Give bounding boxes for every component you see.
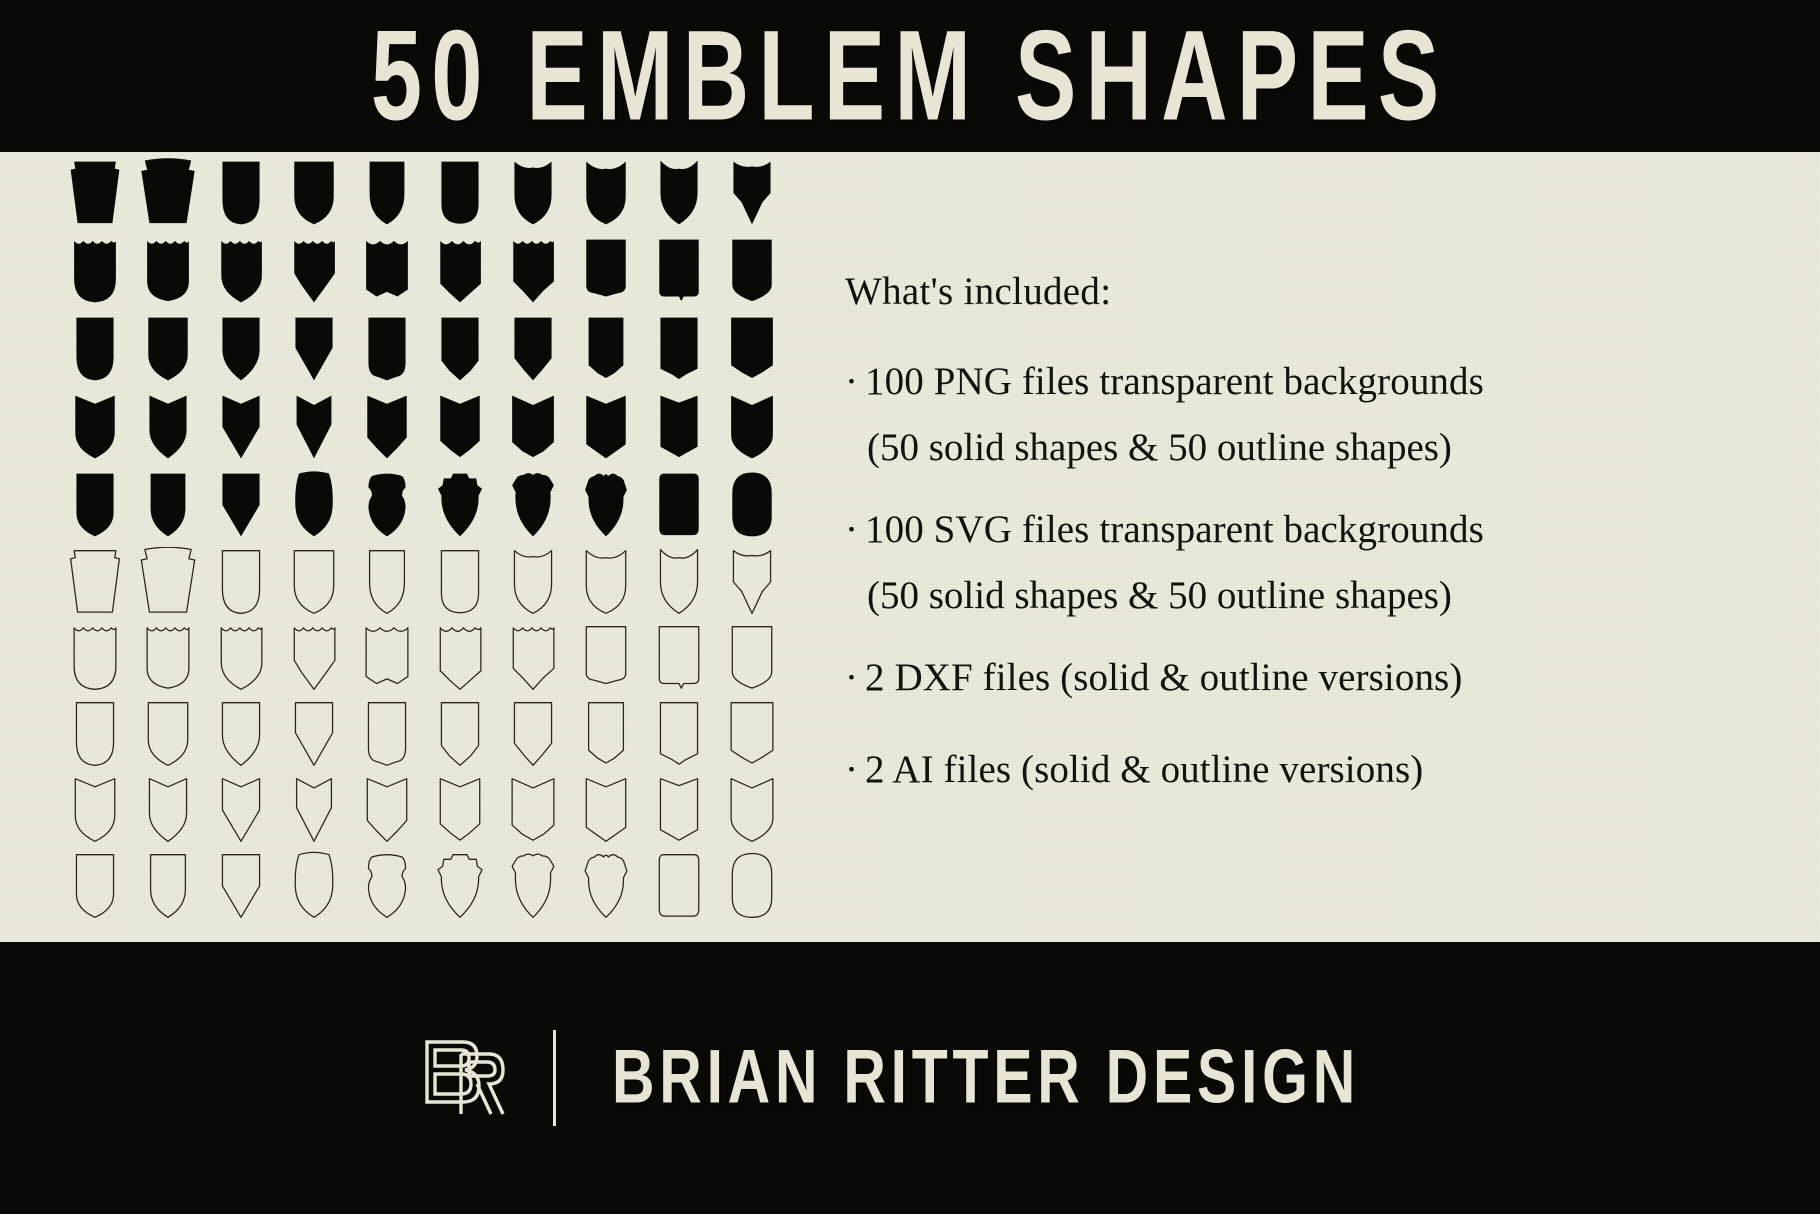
bullet-dot-icon: · <box>845 504 865 556</box>
solid-round-base-shield <box>423 154 496 232</box>
outline-bullet-shield <box>277 772 350 848</box>
poster-canvas: 50 EMBLEM SHAPES What's included: ·100 P… <box>0 0 1820 1214</box>
outline-flat-round-shield <box>277 848 350 924</box>
solid-chevron-top-notched-shield <box>642 310 715 388</box>
outline-wavy-top-heater-shield <box>569 544 642 620</box>
outline-scalloped-top-tall-shield <box>496 620 569 696</box>
solid-narrow-spade-shield <box>131 388 204 466</box>
bullet-dot-icon: · <box>845 356 865 408</box>
outline-notched-pointed-shield <box>715 544 788 620</box>
solid-scalloped-top-pointed-shield <box>204 232 277 310</box>
emblem-showcase <box>58 154 788 938</box>
outline-wavy-top-pointed-shield <box>642 544 715 620</box>
included-items-list: ·100 PNG files transparent backgrounds(5… <box>845 356 1775 796</box>
list-item: ·2 AI files (solid & outline versions) <box>845 744 1775 796</box>
included-item-line: ·2 AI files (solid & outline versions) <box>845 744 1775 796</box>
solid-scalloped-tab-shield <box>715 232 788 310</box>
solid-scalloped-top-arrow-shield <box>423 232 496 310</box>
footer-divider <box>553 1030 556 1126</box>
whats-included-heading: What's included: <box>845 270 1775 314</box>
solid-chevron-narrow-shield <box>496 388 569 466</box>
solid-chevron-bullet-shield <box>350 388 423 466</box>
solid-chevron-spade-shield <box>423 388 496 466</box>
solid-curved-top-pointed-shield <box>131 466 204 544</box>
outline-wide-chevron-shield <box>715 772 788 848</box>
outline-round-bottom-shield <box>204 544 277 620</box>
solid-scalloped-top-spade-shield <box>277 232 350 310</box>
list-item: ·100 PNG files transparent backgrounds(5… <box>845 356 1775 474</box>
solid-scalloped-top-tall-shield <box>496 232 569 310</box>
solid-notched-pointed-shield <box>715 154 788 232</box>
solid-tall-heater-shield <box>350 154 423 232</box>
poster-header: 50 EMBLEM SHAPES <box>0 0 1820 152</box>
page-title: 50 EMBLEM SHAPES <box>371 12 1449 140</box>
solid-scalloped-square-shield <box>642 232 715 310</box>
solid-rounded-corner-shield <box>204 466 277 544</box>
solid-scalloped-top-flat-shield <box>131 232 204 310</box>
solid-wavy-top-narrow-shield <box>496 154 569 232</box>
solid-bullet-shield <box>277 388 350 466</box>
included-item-subtext: (50 solid shapes & 50 outline shapes) <box>845 422 1775 474</box>
solid-scalloped-top-round-shield <box>58 232 131 310</box>
solid-flat-round-shield <box>277 466 350 544</box>
brand-name: BRIAN RITTER DESIGN <box>612 1040 1360 1116</box>
list-item: ·100 SVG files transparent backgrounds(5… <box>845 504 1775 622</box>
outline-chevron-top-spade-shield <box>496 696 569 772</box>
solid-wavy-top-heater-shield <box>569 154 642 232</box>
outline-scalloped-top-flat-shield <box>131 620 204 696</box>
outline-scalloped-top-arrow-shield <box>423 620 496 696</box>
solid-stepped-banner-shield <box>131 154 204 232</box>
outline-soft-heater-shield <box>131 696 204 772</box>
solid-shapes-grid <box>58 154 788 544</box>
solid-soft-heater-shield <box>131 310 204 388</box>
solid-concave-badge-shield <box>350 466 423 544</box>
outline-chevron-spade-shield <box>423 772 496 848</box>
outline-chevron-block-shield <box>569 772 642 848</box>
outline-chevron-narrow-shield <box>496 772 569 848</box>
outline-round-bottom-tall-shield <box>58 696 131 772</box>
outline-stepped-banner-shield <box>131 544 204 620</box>
solid-ornate-police-badge <box>423 466 496 544</box>
outline-concave-badge-shield <box>350 848 423 924</box>
solid-wavy-top-pointed-shield <box>642 154 715 232</box>
outline-chevron-bullet-shield <box>350 772 423 848</box>
solid-chevron-top-pointed-shield <box>423 310 496 388</box>
bullet-dot-icon: · <box>845 652 865 704</box>
outline-wide-pointed-shield <box>58 772 131 848</box>
outline-chevron-tall-block-shield <box>642 772 715 848</box>
outline-curved-top-shield <box>58 848 131 924</box>
solid-flared-banner-shield <box>58 154 131 232</box>
bullet-dot-icon: · <box>845 744 865 796</box>
included-item-label: 2 DXF files (solid & outline versions) <box>865 656 1462 699</box>
outline-shapes-grid <box>58 544 788 924</box>
solid-chevron-top-flat-shield <box>569 310 642 388</box>
poster-body: What's included: ·100 PNG files transpar… <box>0 152 1820 942</box>
outline-scalloped-police-badge <box>569 848 642 924</box>
outline-narrow-spade-shield <box>131 772 204 848</box>
solid-capsule-emblem <box>715 466 788 544</box>
solid-scalloped-flat-base-shield <box>569 232 642 310</box>
outline-ornate-police-badge <box>423 848 496 924</box>
solid-round-bottom-shield <box>204 154 277 232</box>
outline-scalloped-top-round-shield <box>58 620 131 696</box>
solid-scalloped-top-notched-shield <box>350 232 423 310</box>
outline-rounded-corner-shield <box>204 848 277 924</box>
br-monogram-icon <box>421 1030 507 1126</box>
outline-pointed-heater-shield <box>204 696 277 772</box>
outline-chevron-top-notched-shield <box>642 696 715 772</box>
solid-bumped-police-badge <box>496 466 569 544</box>
solid-wide-pointed-shield <box>58 388 131 466</box>
solid-scalloped-police-badge <box>569 466 642 544</box>
outline-scalloped-tab-shield <box>715 620 788 696</box>
outline-scalloped-top-spade-shield <box>277 620 350 696</box>
outline-curved-top-pointed-shield <box>131 848 204 924</box>
solid-classic-heater-shield <box>277 154 350 232</box>
outline-chevron-top-round-shield <box>350 696 423 772</box>
outline-chevron-top-flat-shield <box>569 696 642 772</box>
outline-slim-spade-shield <box>204 772 277 848</box>
outline-rounded-rect-emblem <box>642 848 715 924</box>
list-item: ·2 DXF files (solid & outline versions) <box>845 652 1775 704</box>
outline-tall-heater-shield <box>350 544 423 620</box>
solid-wide-chevron-shield <box>715 388 788 466</box>
included-item-label: 2 AI files (solid & outline versions) <box>865 748 1423 791</box>
outline-spade-shield <box>277 696 350 772</box>
solid-round-bottom-tall-shield <box>58 310 131 388</box>
outline-scalloped-square-shield <box>642 620 715 696</box>
outline-bumped-police-badge <box>496 848 569 924</box>
included-item-line: ·100 SVG files transparent backgrounds <box>845 504 1775 556</box>
outline-scalloped-top-notched-shield <box>350 620 423 696</box>
solid-spade-shield <box>277 310 350 388</box>
outline-chevron-top-wide-shield <box>715 696 788 772</box>
outline-round-base-shield <box>423 544 496 620</box>
included-item-line: ·100 PNG files transparent backgrounds <box>845 356 1775 408</box>
solid-chevron-block-shield <box>569 388 642 466</box>
solid-curved-top-shield <box>58 466 131 544</box>
included-item-line: ·2 DXF files (solid & outline versions) <box>845 652 1775 704</box>
outline-scalloped-flat-base-shield <box>569 620 642 696</box>
outline-flared-banner-shield <box>58 544 131 620</box>
solid-pointed-heater-shield <box>204 310 277 388</box>
included-item-subtext: (50 solid shapes & 50 outline shapes) <box>845 570 1775 622</box>
outline-wavy-top-narrow-shield <box>496 544 569 620</box>
solid-chevron-top-wide-shield <box>715 310 788 388</box>
brand-lockup: BRIAN RITTER DESIGN <box>421 1030 1399 1126</box>
included-item-label: 100 SVG files transparent backgrounds <box>865 508 1484 551</box>
outline-chevron-top-pointed-shield <box>423 696 496 772</box>
solid-chevron-top-spade-shield <box>496 310 569 388</box>
outline-scalloped-top-pointed-shield <box>204 620 277 696</box>
solid-chevron-top-round-shield <box>350 310 423 388</box>
outline-classic-heater-shield <box>277 544 350 620</box>
included-item-label: 100 PNG files transparent backgrounds <box>865 360 1484 403</box>
solid-slim-spade-shield <box>204 388 277 466</box>
solid-rounded-rect-emblem <box>642 466 715 544</box>
poster-footer: BRIAN RITTER DESIGN <box>0 942 1820 1214</box>
solid-chevron-tall-block-shield <box>642 388 715 466</box>
outline-capsule-emblem <box>715 848 788 924</box>
included-list-panel: What's included: ·100 PNG files transpar… <box>845 270 1775 836</box>
